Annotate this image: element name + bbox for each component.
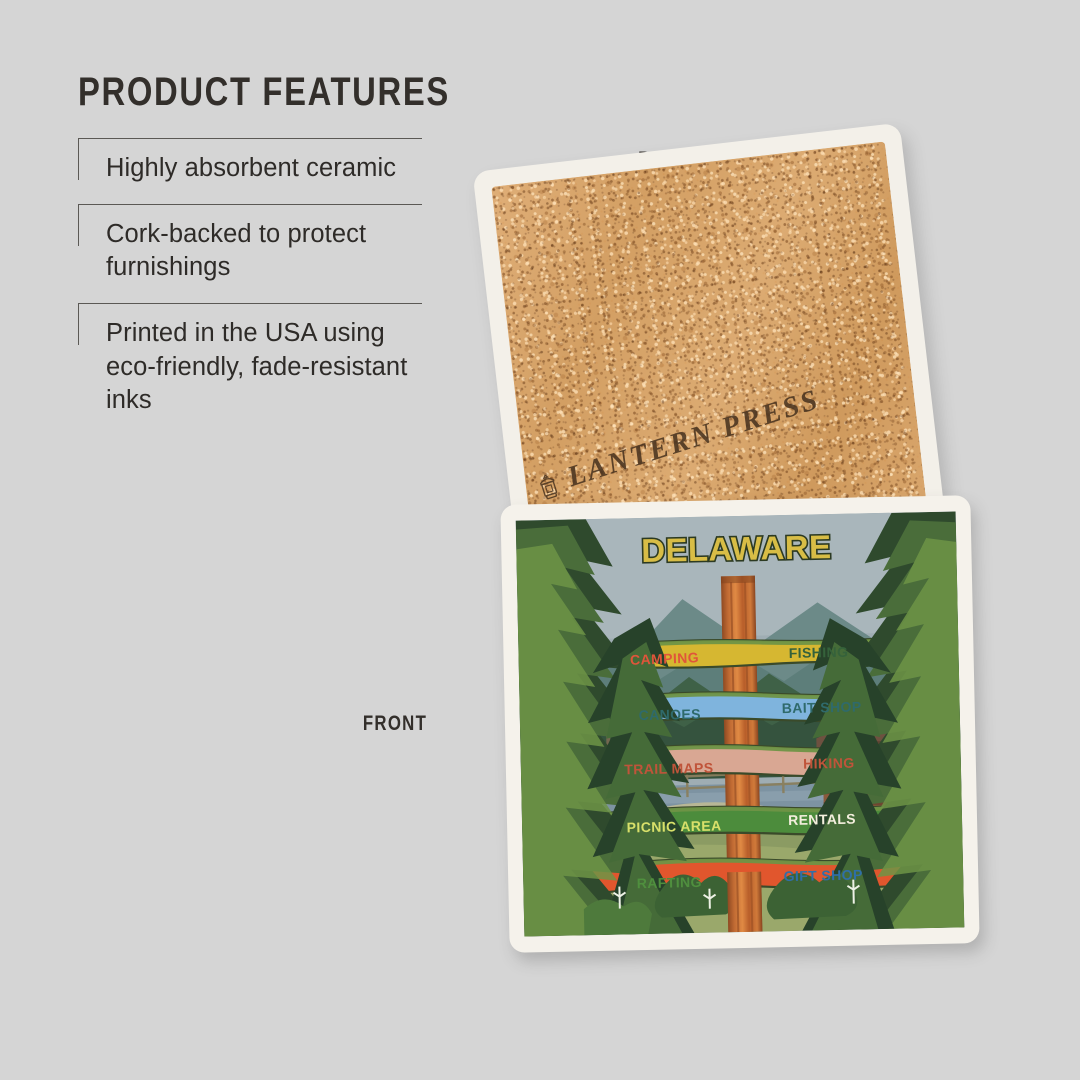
- label-front: FRONT: [343, 712, 447, 736]
- feature-rule: [78, 138, 422, 139]
- feature-text: Highly absorbent ceramic: [106, 152, 438, 186]
- sign-label-hiking: HIKING: [803, 755, 855, 772]
- sign-label-bait-shop: BAIT SHOP: [782, 698, 862, 716]
- coaster-artwork: DELAWARE CAMPING FISHING CANOES BAIT SHO…: [516, 511, 965, 936]
- feature-item-3: Printed in the USA using eco-friendly, f…: [78, 303, 438, 436]
- sign-label-rentals: RENTALS: [788, 811, 856, 828]
- feature-rule: [78, 204, 422, 205]
- product-features-panel: PRODUCT FEATURES Highly absorbent cerami…: [78, 72, 438, 436]
- feature-item-1: Highly absorbent ceramic: [78, 138, 438, 204]
- sign-label-fishing: FISHING: [789, 644, 849, 661]
- signpost-illustration: DELAWARE CAMPING FISHING CANOES BAIT SHO…: [516, 511, 965, 936]
- feature-tick: [78, 138, 79, 180]
- coaster-front: DELAWARE CAMPING FISHING CANOES BAIT SHO…: [500, 495, 979, 953]
- art-title: DELAWARE: [641, 528, 832, 569]
- feature-text: Cork-backed to protect furnishings: [106, 218, 438, 285]
- sign-label-rafting: RAFTING: [637, 874, 702, 891]
- feature-tick: [78, 204, 79, 246]
- sign-label-picnic-area: PICNIC AREA: [627, 817, 722, 835]
- feature-rule: [78, 303, 422, 304]
- sign-label-canoes: CANOES: [638, 706, 701, 723]
- page-title: PRODUCT FEATURES: [78, 72, 373, 112]
- feature-text: Printed in the USA using eco-friendly, f…: [106, 317, 438, 418]
- sign-label-camping: CAMPING: [630, 649, 699, 668]
- product-composite: PRODUCT FEATURES Highly absorbent cerami…: [0, 0, 1080, 1080]
- sign-label-gift-shop: GIFT SHOP: [783, 866, 862, 884]
- sign-label-trail-maps: TRAIL MAPS: [624, 760, 714, 778]
- feature-tick: [78, 303, 79, 345]
- feature-item-2: Cork-backed to protect furnishings: [78, 204, 438, 303]
